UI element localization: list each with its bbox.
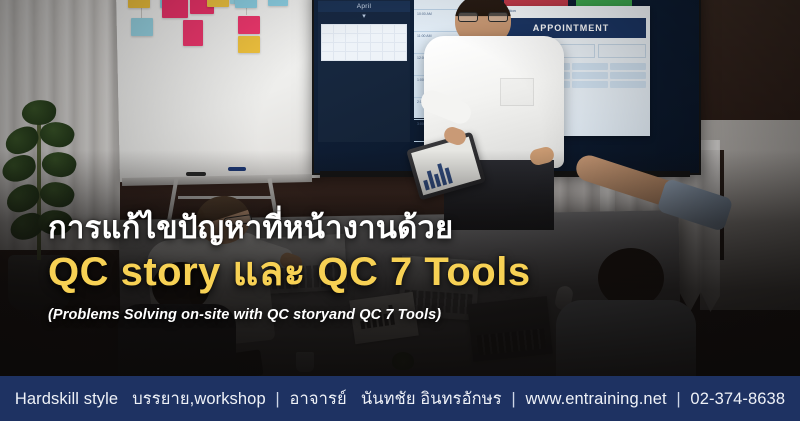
subtitle-english: (Problems Solving on-site with QC storya… xyxy=(48,307,800,323)
footer-website-link[interactable]: www.entraining.net xyxy=(525,390,666,408)
footer-instructor-label: อาจารย์ xyxy=(290,390,347,408)
headline-thai: การแก้ไขปัญหาที่หน้างานด้วย xyxy=(48,212,800,245)
footer-separator: | xyxy=(506,390,520,408)
footer-style-label: Hardskill style xyxy=(15,390,118,408)
footer-info-text: Hardskill style บรรยาย,workshop | อาจารย… xyxy=(15,386,785,412)
footer-phone-number[interactable]: 02-374-8638 xyxy=(690,390,785,408)
headline-highlight: QC story และ QC 7 Tools xyxy=(48,251,800,293)
course-banner: March April ▾ 9:00 AM 10:00 AM 11:00 AM … xyxy=(0,0,800,421)
footer-separator: | xyxy=(270,390,284,408)
headline-block: การแก้ไขปัญหาที่หน้างานด้วย QC story และ… xyxy=(0,212,800,323)
footer-bar: Hardskill style บรรยาย,workshop | อาจารย… xyxy=(0,376,800,421)
footer-format-label: บรรยาย,workshop xyxy=(132,390,266,408)
footer-separator: | xyxy=(671,390,685,408)
footer-instructor-name: นันทชัย อินทรอักษร xyxy=(361,390,502,408)
